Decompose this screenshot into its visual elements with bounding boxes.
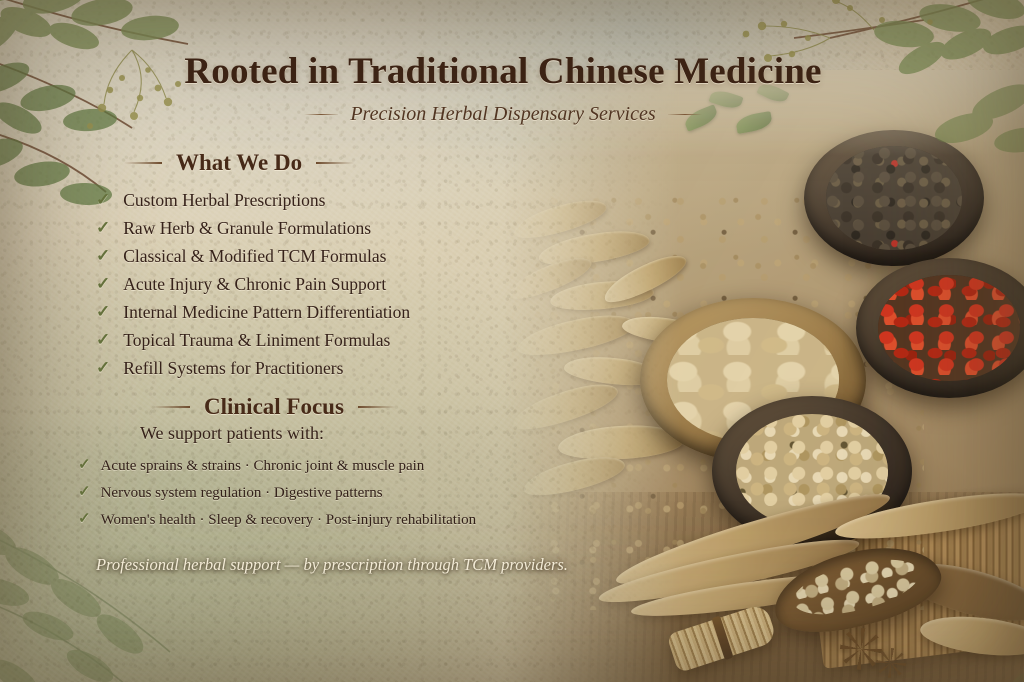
heading-rule-right-icon: [358, 406, 396, 408]
section-heading-text: Clinical Focus: [204, 394, 344, 420]
list-item-label: Topical Trauma & Liniment Formulas: [123, 326, 390, 354]
clinical-focus-list: ✓ Acute sprains & strains · Chronic join…: [78, 453, 476, 534]
poster-canvas: Rooted in Traditional Chinese Medicine P…: [0, 0, 1024, 682]
check-icon: ✓: [78, 479, 91, 506]
check-icon: ✓: [78, 506, 91, 533]
footnote-text: Professional herbal support — by prescri…: [96, 555, 568, 575]
list-item-label: Classical & Modified TCM Formulas: [123, 242, 386, 270]
clinical-focus-intro: We support patients with:: [140, 423, 324, 444]
list-item: ✓ Acute sprains & strains · Chronic join…: [78, 453, 476, 480]
check-icon: ✓: [96, 354, 110, 382]
check-icon: ✓: [96, 270, 110, 298]
list-item: ✓ Custom Herbal Prescriptions: [96, 186, 410, 214]
list-item-label: Internal Medicine Pattern Differentiatio…: [123, 298, 410, 326]
poster-content: Rooted in Traditional Chinese Medicine P…: [0, 0, 1024, 682]
list-item: ✓ Classical & Modified TCM Formulas: [96, 242, 410, 270]
list-item-label: Raw Herb & Granule Formulations: [123, 214, 371, 242]
heading-rule-left-icon: [152, 406, 190, 408]
check-icon: ✓: [96, 242, 110, 270]
subtitle-dash-left-icon: [304, 114, 338, 116]
list-item: ✓ Internal Medicine Pattern Differentiat…: [96, 298, 410, 326]
subtitle-dash-right-icon: [668, 114, 702, 116]
check-icon: ✓: [96, 298, 110, 326]
list-item: ✓ Nervous system regulation · Digestive …: [78, 480, 476, 507]
page-title: Rooted in Traditional Chinese Medicine: [0, 50, 1024, 93]
list-item-label: Acute Injury & Chronic Pain Support: [123, 270, 386, 298]
list-item: ✓ Women's health · Sleep & recovery · Po…: [78, 507, 476, 534]
check-icon: ✓: [96, 326, 110, 354]
list-item-label: Refill Systems for Practitioners: [123, 354, 343, 382]
list-item: ✓ Raw Herb & Granule Formulations: [96, 214, 410, 242]
section-heading-text: What We Do: [176, 150, 302, 176]
check-icon: ✓: [96, 186, 110, 214]
section-heading-what-we-do: What We Do: [124, 150, 354, 176]
list-item-label: Acute sprains & strains · Chronic joint …: [101, 453, 425, 480]
check-icon: ✓: [96, 214, 110, 242]
heading-rule-left-icon: [124, 162, 162, 164]
check-icon: ✓: [78, 452, 91, 479]
section-heading-clinical-focus: Clinical Focus: [152, 394, 396, 420]
list-item: ✓ Topical Trauma & Liniment Formulas: [96, 326, 410, 354]
list-item-label: Custom Herbal Prescriptions: [123, 186, 325, 214]
list-item-label: Nervous system regulation · Digestive pa…: [101, 480, 383, 507]
list-item-label: Women's health · Sleep & recovery · Post…: [101, 507, 477, 534]
heading-rule-right-icon: [316, 162, 354, 164]
page-subtitle: Precision Herbal Dispensary Services: [0, 103, 1024, 126]
list-item: ✓ Refill Systems for Practitioners: [96, 354, 410, 382]
subtitle-text: Precision Herbal Dispensary Services: [350, 103, 655, 126]
list-item: ✓ Acute Injury & Chronic Pain Support: [96, 270, 410, 298]
what-we-do-list: ✓ Custom Herbal Prescriptions ✓ Raw Herb…: [96, 186, 410, 382]
